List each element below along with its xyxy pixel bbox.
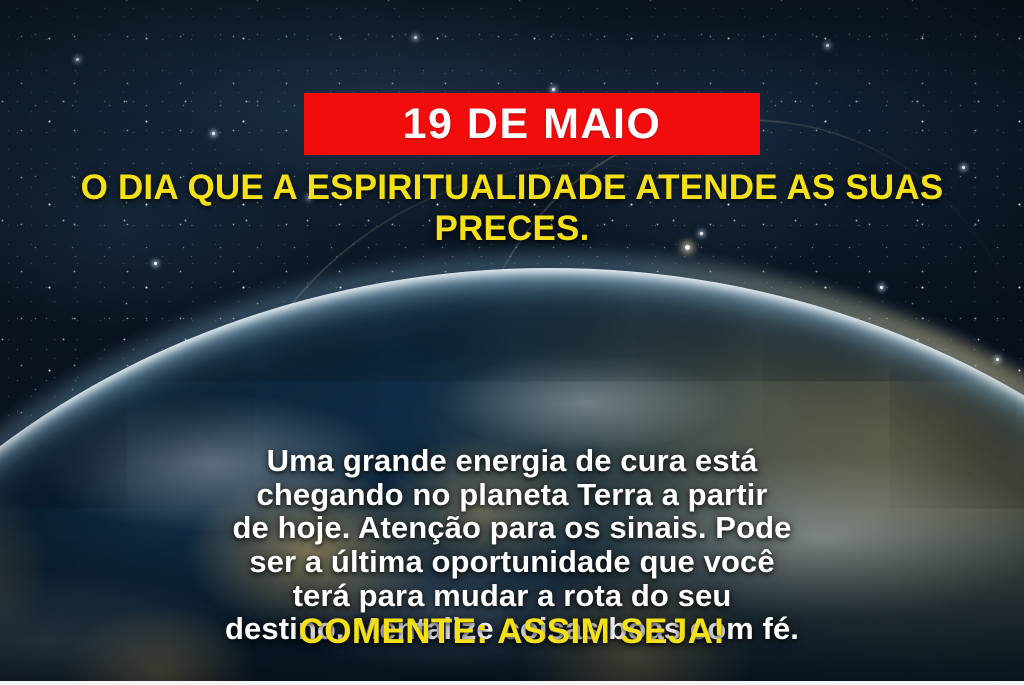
date-banner-label: 19 DE MAIO: [403, 103, 662, 146]
headline-line: O DIA QUE A ESPIRITUALIDADE: [81, 168, 627, 207]
headline: O DIA QUE A ESPIRITUALIDADE ATENDE AS SU…: [0, 168, 1024, 249]
date-banner: 19 DE MAIO: [304, 93, 760, 155]
poster-content: 19 DE MAIO O DIA QUE A ESPIRITUALIDADE A…: [0, 0, 1024, 685]
bottom-frame-strip: [0, 681, 1024, 685]
body-line: ser a última oportunidade que você: [14, 545, 1010, 579]
body-line: terá para mudar a rota do seu: [14, 579, 1010, 613]
call-to-action: COMENTE: ASSIM SEJA!: [0, 614, 1024, 649]
body-line: Uma grande energia de cura está: [14, 444, 1010, 478]
call-to-action-label: COMENTE: ASSIM SEJA!: [299, 612, 726, 651]
social-poster: 19 DE MAIO O DIA QUE A ESPIRITUALIDADE A…: [0, 0, 1024, 685]
body-line: chegando no planeta Terra a partir: [14, 478, 1010, 512]
body-line: de hoje. Atenção para os sinais. Pode: [14, 511, 1010, 545]
